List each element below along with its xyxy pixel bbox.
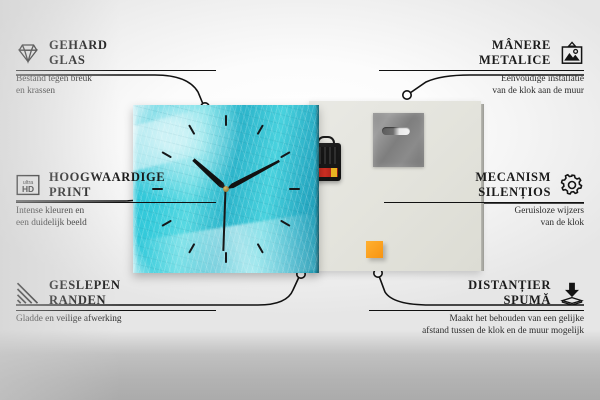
feature-title-line1: MÂNERE (479, 38, 551, 53)
feature-tempered-glass: GEHARD GLAS Bestand tegen breuk en krass… (16, 38, 216, 97)
feature-sub-line2: afstand tussen de klok en de muur mogeli… (369, 326, 584, 338)
feature-title-line1: MECANISM (475, 170, 551, 185)
feature-title-line2: SPUMĂ (468, 293, 551, 308)
divider (379, 70, 584, 71)
feature-silent-mechanism: MECANISM SILENȚIOS Geruisloze wijzers va… (384, 170, 584, 229)
feature-sub-line1: Geruisloze wijzers (384, 206, 584, 218)
feature-title-line1: DISTANȚIER (468, 278, 551, 293)
feature-title-line2: GLAS (49, 53, 107, 68)
hanger-slot (382, 127, 410, 135)
feature-sub-line1: Intense kleuren en (16, 206, 216, 218)
down-arrow-to-surface-icon (560, 281, 584, 305)
glass-edge-right (315, 105, 319, 273)
feature-sub-line1: Bestand tegen breuk (16, 74, 216, 86)
feature-sub-line2: van de klok (384, 218, 584, 230)
metal-hanger-plate (373, 113, 424, 167)
feature-sub-line2: een duidelijk beeld (16, 218, 216, 230)
feature-sub-line1: Eenvoudige installatie (379, 74, 584, 86)
feature-title-line2: RANDEN (49, 293, 121, 308)
hour-tick (226, 188, 300, 190)
hour-tick (225, 115, 227, 189)
foam-spacer-piece (366, 241, 383, 258)
feature-sub-line2: en krassen (16, 86, 216, 98)
infographic-canvas: GEHARD GLAS Bestand tegen breuk en krass… (0, 0, 600, 400)
feature-title-line2: METALICE (479, 53, 551, 68)
feature-sub-line1: Maakt het behouden van een gelijke (369, 314, 584, 326)
divider (16, 70, 216, 71)
feature-title-line1: GESLEPEN (49, 278, 121, 293)
feature-high-quality-print: ultra HD HOOGWAARDIGE PRINT Intense kleu… (16, 170, 216, 229)
feature-title-line2: PRINT (49, 185, 165, 200)
divider (16, 202, 216, 203)
divider (369, 310, 584, 311)
framed-picture-icon (560, 41, 584, 65)
divider (16, 310, 216, 311)
feature-ground-edges: GESLEPEN RANDEN Gladde en veilige afwerk… (16, 278, 216, 326)
gear-icon (560, 173, 584, 197)
feature-title-line1: GEHARD (49, 38, 107, 53)
diamond-icon (16, 41, 40, 65)
diagonal-lines-icon (16, 281, 40, 305)
feature-sub-line2: van de klok aan de muur (379, 86, 584, 98)
svg-text:HD: HD (22, 184, 34, 194)
feature-sub-line1: Gladde en veilige afwerking (16, 314, 216, 326)
feature-title-line2: SILENȚIOS (475, 185, 551, 200)
divider (384, 202, 584, 203)
feature-foam-spacer: DISTANȚIER SPUMĂ Maakt het behouden van … (369, 278, 584, 337)
feature-metal-handles: MÂNERE METALICE Eenvoudige installatie v… (379, 38, 584, 97)
hand-center-cap (223, 186, 229, 192)
feature-title-line1: HOOGWAARDIGE (49, 170, 165, 185)
ultra-hd-icon: ultra HD (16, 173, 40, 197)
